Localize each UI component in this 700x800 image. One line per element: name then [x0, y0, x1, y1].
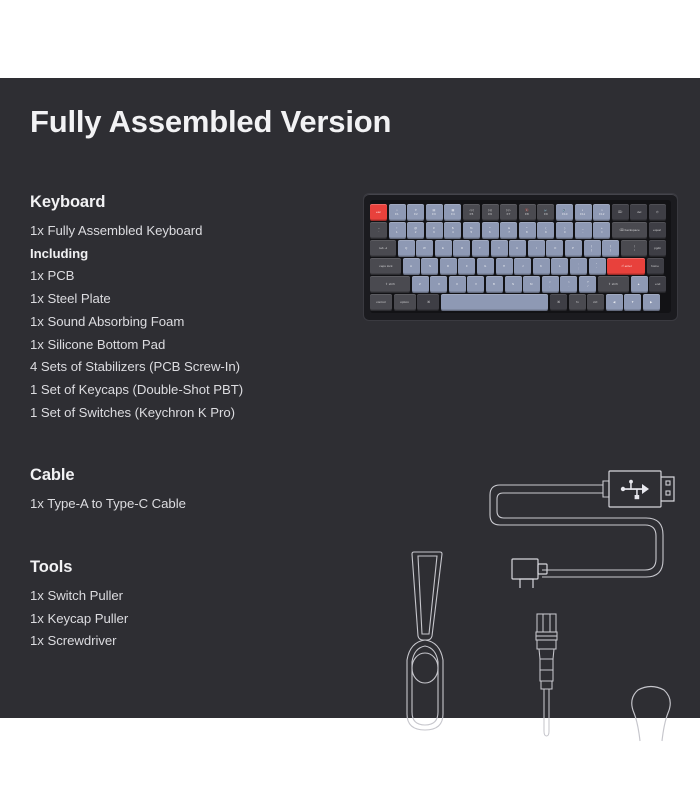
keycap[interactable]: ^ 6 [482, 222, 499, 239]
keycap[interactable]: # 3 [426, 222, 443, 239]
keycap-legend: & 7 [508, 227, 510, 234]
keycap[interactable]: E [435, 240, 452, 257]
keycap-legend: R [461, 247, 463, 250]
keycap[interactable]: caps lock [370, 258, 401, 275]
section-cable: Cable 1x Type-A to Type-C Cable [30, 466, 186, 516]
keycap-legend: fn [576, 301, 579, 304]
keycap-legend: 🔇 F8 [525, 209, 529, 216]
keycap[interactable]: : ; [570, 258, 587, 275]
keycap[interactable]: ▼ [624, 294, 641, 311]
keycap-legend: N [512, 283, 514, 286]
list-item: Including [30, 243, 243, 266]
keycap[interactable]: F [458, 258, 475, 275]
list-item: 1x Switch Puller [30, 585, 128, 608]
keycap-legend: : ; [578, 263, 579, 270]
keyboard-plate: esc☼ F1☀ F2▤ F3▦ F4◁◁ F5▷|| F6▷▷ F7🔇 F8🔉… [370, 200, 671, 313]
keycap-legend: E [442, 247, 444, 250]
keycap-legend: W [423, 247, 426, 250]
keycap-legend: del [637, 211, 641, 214]
keycap-legend: ⌘ [427, 301, 430, 304]
spec-panel: Fully Assembled Version Keyboard 1x Full… [0, 78, 700, 718]
keycap-legend: T [480, 247, 482, 250]
keycap[interactable]: ⌘ [417, 294, 439, 311]
keycap-legend: ☀ F2 [414, 209, 418, 216]
keycap[interactable]: X [430, 276, 447, 293]
keycap-legend: P [572, 247, 574, 250]
keycap[interactable]: pgdn [649, 240, 666, 257]
keycap[interactable]: A [403, 258, 420, 275]
keycap[interactable]: 🔇 F8 [519, 204, 536, 221]
keycap-legend: equal [654, 229, 662, 232]
keyboard-row: tab ⇥QWERTYUIOP{ [} ]| \pgdn [370, 240, 671, 257]
section-item-list: 1x Fully Assembled KeyboardIncluding1x P… [30, 220, 243, 424]
keycap[interactable]: option [394, 294, 416, 311]
keyboard-case: esc☼ F1☀ F2▤ F3▦ F4◁◁ F5▷|| F6▷▷ F7🔇 F8🔉… [363, 193, 678, 321]
keycap-legend: Y [498, 247, 500, 250]
keycap-legend: K [540, 265, 542, 268]
keycap-legend: pgdn [654, 247, 661, 250]
keycap-legend: 🔊 F10 [562, 209, 567, 216]
keycap-legend: # 3 [433, 227, 435, 234]
keycap-legend: F [466, 265, 468, 268]
keycap[interactable]: R [453, 240, 470, 257]
keycap-legend: ? / [587, 281, 589, 288]
keycap[interactable]: P [565, 240, 582, 257]
list-item: 1x Screwdriver [30, 630, 128, 653]
keycap[interactable]: ☀ F2 [407, 204, 424, 221]
keycap[interactable] [441, 294, 549, 311]
list-item: 1x PCB [30, 265, 243, 288]
keycap-legend: ▶ [650, 301, 652, 304]
keycap-legend: { [ [591, 245, 592, 252]
keycap[interactable]: ◑ F12 [593, 204, 610, 221]
keycap[interactable]: ctrl [587, 294, 604, 311]
section-keyboard: Keyboard 1x Fully Assembled KeyboardIncl… [30, 193, 243, 424]
keycap-legend: V [475, 283, 477, 286]
keycap[interactable]: N [505, 276, 522, 293]
list-item: 4 Sets of Stabilizers (PCB Screw-In) [30, 356, 243, 379]
list-item: 1x Sound Absorbing Foam [30, 311, 243, 334]
keycap[interactable]: } ] [602, 240, 619, 257]
keycap-legend: > . [568, 281, 570, 288]
keycap-legend: ▲ [637, 283, 640, 286]
keycap[interactable]: C [449, 276, 466, 293]
keycap[interactable]: H [496, 258, 513, 275]
keycap[interactable]: @ 2 [407, 222, 424, 239]
keycap-legend: ⏻ [656, 211, 658, 214]
keycap-legend: O [554, 247, 556, 250]
keycap-legend: < , [549, 281, 551, 288]
keycap[interactable]: & 7 [500, 222, 517, 239]
keycap[interactable]: 🔉 F9 [537, 204, 554, 221]
keycap-legend: G [484, 265, 486, 268]
keycap-legend: end [655, 283, 660, 286]
keycap-legend: A [410, 265, 412, 268]
keycap[interactable]: home [647, 258, 664, 275]
keycap-legend: ctrl [593, 301, 597, 304]
keycap[interactable]: ( 9 [537, 222, 554, 239]
keycap[interactable]: esc [370, 204, 387, 221]
keycap-legend: ☼ F1 [395, 209, 399, 216]
keycap-legend: B [493, 283, 495, 286]
section-heading: Cable [30, 466, 186, 485]
keyboard-row: controloption⌘⌘fnctrl◀▼▶ [370, 294, 671, 311]
keycap-puller-illustration [392, 548, 462, 738]
keycap[interactable]: G [477, 258, 494, 275]
keycap[interactable]: S [421, 258, 438, 275]
keycap[interactable]: ⏎ enter [607, 258, 645, 275]
keycap[interactable]: ⌫ backspace [612, 222, 648, 239]
keycap[interactable]: Y [491, 240, 508, 257]
keycap-legend: ( 9 [545, 227, 547, 234]
keycap[interactable]: + = [593, 222, 610, 239]
keycap-legend: ⌦ [618, 211, 622, 214]
keycap-legend: X [438, 283, 440, 286]
keycap-legend: ⇧ shift [385, 283, 394, 286]
keycap[interactable]: ⌦ [612, 204, 629, 221]
keycap-legend: M [530, 283, 533, 286]
keycap-legend: ◐ F11 [580, 209, 585, 216]
page-root: Fully Assembled Version Keyboard 1x Full… [0, 0, 700, 800]
keycap[interactable]: ▷|| F6 [482, 204, 499, 221]
keyboard-illustration: esc☼ F1☀ F2▤ F3▦ F4◁◁ F5▷|| F6▷▷ F7🔇 F8🔉… [363, 193, 678, 321]
keycap-legend: ⏎ enter [621, 265, 632, 268]
keycap[interactable]: I [528, 240, 545, 257]
keycap[interactable]: U [509, 240, 526, 257]
list-item: 1x Keycap Puller [30, 608, 128, 631]
keycap[interactable]: > . [560, 276, 577, 293]
keycap[interactable]: ⌘ [550, 294, 567, 311]
keycap-legend: ◀ [613, 301, 615, 304]
keycap-legend: Z [419, 283, 421, 286]
keycap[interactable]: O [546, 240, 563, 257]
keycap[interactable]: % 5 [463, 222, 480, 239]
keyboard-row: caps lockASDFGHJKL: ;" '⏎ enterhome [370, 258, 671, 275]
keycap-legend: D [447, 265, 449, 268]
keycap-legend: I [536, 247, 537, 250]
keycap-legend: ▦ F4 [451, 209, 455, 216]
keyboard-row: ⇧ shiftZXCVBNM< ,> .? /⇧ shift▲end [370, 276, 671, 293]
keycap[interactable]: fn [569, 294, 586, 311]
keyboard-row: ~ `! 1@ 2# 3$ 4% 5^ 6& 7* 8( 9) 0_ -+ =⌫… [370, 222, 671, 239]
keycap[interactable]: J [514, 258, 531, 275]
keycap[interactable]: ▲ [631, 276, 648, 293]
keycap-legend: L [559, 265, 561, 268]
keycap-legend: } ] [610, 245, 611, 252]
keycap[interactable]: ⇧ shift [370, 276, 410, 293]
keycap-legend: @ 2 [414, 227, 417, 234]
keycap[interactable]: ⏻ [649, 204, 666, 221]
keycap[interactable]: < , [542, 276, 559, 293]
keycap[interactable]: ◀ [606, 294, 623, 311]
screwdriver-illustration [527, 610, 567, 742]
keycap[interactable]: V [467, 276, 484, 293]
keycap[interactable]: ! 1 [389, 222, 406, 239]
list-item: 1x Type-A to Type-C Cable [30, 493, 186, 516]
list-item: 1x Fully Assembled Keyboard [30, 220, 243, 243]
section-item-list: 1x Type-A to Type-C Cable [30, 493, 186, 516]
keycap-legend: ◑ F12 [599, 209, 604, 216]
keycap-legend: | \ [634, 245, 635, 252]
keycap-legend: home [651, 265, 659, 268]
keycap[interactable]: 🔊 F10 [556, 204, 573, 221]
keycap[interactable]: D [440, 258, 457, 275]
keycap[interactable]: ⇧ shift [598, 276, 629, 293]
list-item: 1x Steel Plate [30, 288, 243, 311]
keycap[interactable]: B [486, 276, 503, 293]
keycap-legend: H [503, 265, 505, 268]
section-item-list: 1x Switch Puller1x Keycap Puller1x Screw… [30, 585, 128, 653]
keycap[interactable]: ~ ` [370, 222, 387, 239]
keycap[interactable]: ▤ F3 [426, 204, 443, 221]
keycap[interactable]: Q [398, 240, 415, 257]
keycap-legend: ! 1 [396, 227, 398, 234]
keycap-legend: ▷|| F6 [488, 209, 492, 216]
keycap[interactable]: | \ [621, 240, 648, 257]
switch-puller-illustration [622, 683, 680, 745]
keycap-legend: tab ⇥ [379, 247, 387, 250]
keycap[interactable]: ? / [579, 276, 596, 293]
keycap[interactable]: tab ⇥ [370, 240, 396, 257]
keycap[interactable]: " ' [589, 258, 606, 275]
keycap-legend: ▤ F3 [432, 209, 436, 216]
keycap-legend: S [429, 265, 431, 268]
section-tools: Tools 1x Switch Puller1x Keycap Puller1x… [30, 558, 128, 653]
keycap-legend: ^ 6 [489, 227, 491, 234]
section-heading: Tools [30, 558, 128, 577]
keycap-legend: % 5 [470, 227, 473, 234]
cable-illustration [470, 463, 675, 588]
keycap-legend: " ' [596, 263, 597, 270]
keycap[interactable]: equal [649, 222, 666, 239]
keycap[interactable]: ◐ F11 [575, 204, 592, 221]
keycap-legend: ◁◁ F5 [469, 209, 474, 216]
keycap-legend: control [376, 301, 386, 304]
keycap[interactable]: ) 0 [556, 222, 573, 239]
keycap[interactable]: T [472, 240, 489, 257]
keycap-legend: 🔉 F9 [544, 209, 548, 216]
keycap-legend: U [517, 247, 519, 250]
list-item: 1x Silicone Bottom Pad [30, 334, 243, 357]
keycap-legend: $ 4 [452, 227, 454, 234]
keycap-legend: * 8 [526, 227, 528, 234]
keycap[interactable]: control [370, 294, 392, 311]
keycap[interactable]: K [533, 258, 550, 275]
list-item: 1 Set of Keycaps (Double-Shot PBT) [30, 379, 243, 402]
keycap-legend: ▷▷ F7 [506, 209, 511, 216]
keycap-legend: _ - [582, 227, 584, 234]
keycap-legend: ⌫ backspace [619, 229, 639, 232]
keycap[interactable]: del [630, 204, 647, 221]
keycap-legend: ⇧ shift [609, 283, 618, 286]
usb-trident-icon [621, 480, 649, 500]
keyboard-row: esc☼ F1☀ F2▤ F3▦ F4◁◁ F5▷|| F6▷▷ F7🔇 F8🔉… [370, 204, 671, 221]
keycap-legend: option [400, 301, 409, 304]
list-item: 1 Set of Switches (Keychron K Pro) [30, 402, 243, 425]
keycap[interactable]: _ - [575, 222, 592, 239]
keycap-legend: Q [405, 247, 407, 250]
keycap-legend: ⌘ [557, 301, 560, 304]
keycap[interactable]: { [ [584, 240, 601, 257]
keycap[interactable]: M [523, 276, 540, 293]
page-title: Fully Assembled Version [30, 104, 391, 140]
keycap-legend: + = [601, 227, 603, 234]
keycap-legend: ) 0 [564, 227, 566, 234]
keycap[interactable]: end [649, 276, 666, 293]
keycap[interactable]: L [551, 258, 568, 275]
keycap[interactable]: * 8 [519, 222, 536, 239]
keycap-legend: ~ ` [378, 227, 380, 234]
keycap-legend: C [456, 283, 458, 286]
keycap[interactable]: ▶ [643, 294, 660, 311]
keycap[interactable]: ☼ F1 [389, 204, 406, 221]
keycap[interactable]: ◁◁ F5 [463, 204, 480, 221]
keycap[interactable]: $ 4 [444, 222, 461, 239]
keycap-legend: esc [376, 211, 381, 214]
keycap[interactable]: Z [412, 276, 429, 293]
keycap-legend: J [522, 265, 524, 268]
keycap[interactable]: W [416, 240, 433, 257]
keycap-legend: caps lock [379, 265, 392, 268]
keycap[interactable]: ▦ F4 [444, 204, 461, 221]
keycap-legend: ▼ [631, 301, 634, 304]
keycap[interactable]: ▷▷ F7 [500, 204, 517, 221]
section-heading: Keyboard [30, 193, 243, 212]
